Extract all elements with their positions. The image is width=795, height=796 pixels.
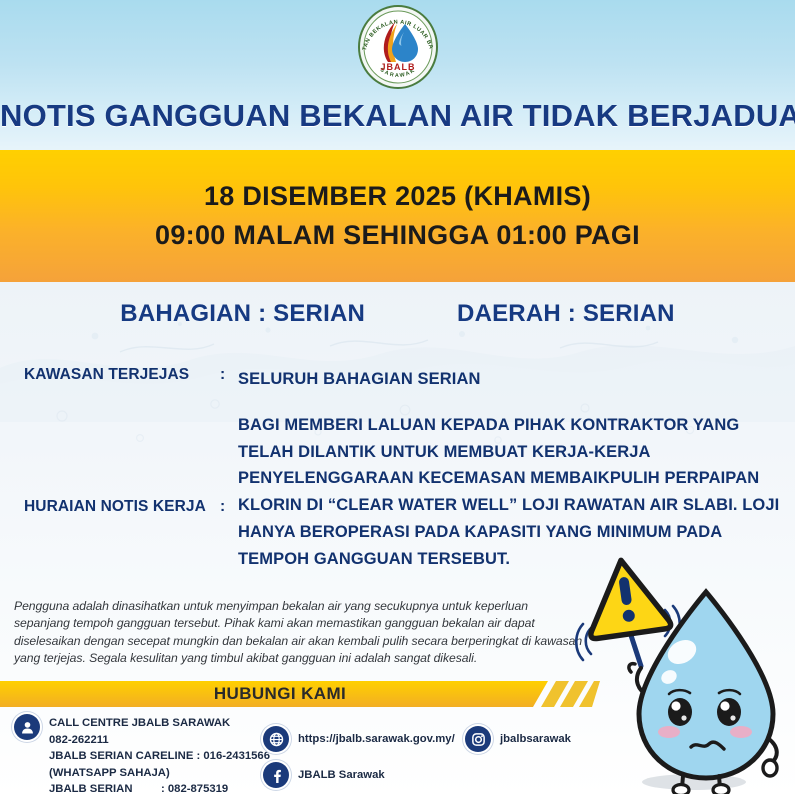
notice-time: 09:00 MALAM SEHINGGA 01:00 PAGI <box>155 220 640 251</box>
globe-icon <box>263 726 289 752</box>
facebook-icon <box>263 762 289 788</box>
huraian-colon: : <box>220 412 238 516</box>
water-disruption-notice-poster: JABATAN BEKALAN AIR LUAR BANDAR SARAWAK … <box>0 0 795 796</box>
website-text[interactable]: https://jbalb.sarawak.gov.my/ <box>298 726 455 748</box>
field-huraian-notis-kerja: HURAIAN NOTIS KERJA : BAGI MEMBERI LALUA… <box>24 412 784 572</box>
daerah-label: DAERAH : SERIAN <box>457 300 675 328</box>
contact-details: CALL CENTRE JBALB SARAWAK082-262211JBALB… <box>0 714 795 796</box>
poster-header: JABATAN BEKALAN AIR LUAR BANDAR SARAWAK … <box>0 0 795 150</box>
kawasan-terjejas-value: SELURUH BAHAGIAN SERIAN <box>238 366 784 393</box>
instagram-icon <box>465 726 491 752</box>
call-line-5: JBALB SERIAN: 082-875319 <box>49 781 270 796</box>
instagram-block[interactable]: jbalbsarawak <box>465 726 571 752</box>
call-centre-block: CALL CENTRE JBALB SARAWAK082-262211JBALB… <box>14 714 270 796</box>
date-time-band: 18 DISEMBER 2025 (KHAMIS) 09:00 MALAM SE… <box>0 150 795 282</box>
huraian-notis-kerja-label: HURAIAN NOTIS KERJA <box>24 412 220 516</box>
jbalb-serian-value: : 082-875319 <box>161 781 228 796</box>
region-row: BAHAGIAN : SERIAN DAERAH : SERIAN <box>0 300 795 328</box>
huraian-notis-kerja-value: BAGI MEMBERI LALUAN KEPADA PIHAK KONTRAK… <box>238 412 784 572</box>
jbalb-logo: JABATAN BEKALAN AIR LUAR BANDAR SARAWAK … <box>355 4 441 90</box>
bahagian-label: BAHAGIAN : SERIAN <box>120 300 365 328</box>
kawasan-colon: : <box>220 366 238 384</box>
contact-banner-label: HUBUNGI KAMI <box>0 681 560 707</box>
website-block[interactable]: https://jbalb.sarawak.gov.my/ <box>263 726 455 752</box>
call-line-1: CALL CENTRE JBALB SARAWAK <box>49 717 230 729</box>
field-kawasan-terjejas: KAWASAN TERJEJAS : SELURUH BAHAGIAN SERI… <box>24 366 784 393</box>
facebook-block[interactable]: JBALB Sarawak <box>263 762 385 788</box>
instagram-text[interactable]: jbalbsarawak <box>500 726 571 748</box>
call-line-4: (WHATSAPP SAHAJA) <box>49 767 170 779</box>
kawasan-terjejas-label: KAWASAN TERJEJAS <box>24 366 220 384</box>
call-centre-text: CALL CENTRE JBALB SARAWAK082-262211JBALB… <box>49 714 270 796</box>
jbalb-serian-key: JBALB SERIAN <box>49 781 161 796</box>
disclaimer-text: Pengguna adalah dinasihatkan untuk menyi… <box>14 598 584 667</box>
page-title: NOTIS GANGGUAN BEKALAN AIR TIDAK BERJADU… <box>0 98 795 134</box>
call-line-2: 082-262211 <box>49 734 109 746</box>
person-icon <box>14 714 40 740</box>
svg-text:JBALB: JBALB <box>380 62 415 72</box>
notice-date: 18 DISEMBER 2025 (KHAMIS) <box>204 181 591 212</box>
facebook-text[interactable]: JBALB Sarawak <box>298 762 385 784</box>
call-line-3: JBALB SERIAN CARELINE : 016-2431566 <box>49 750 270 762</box>
